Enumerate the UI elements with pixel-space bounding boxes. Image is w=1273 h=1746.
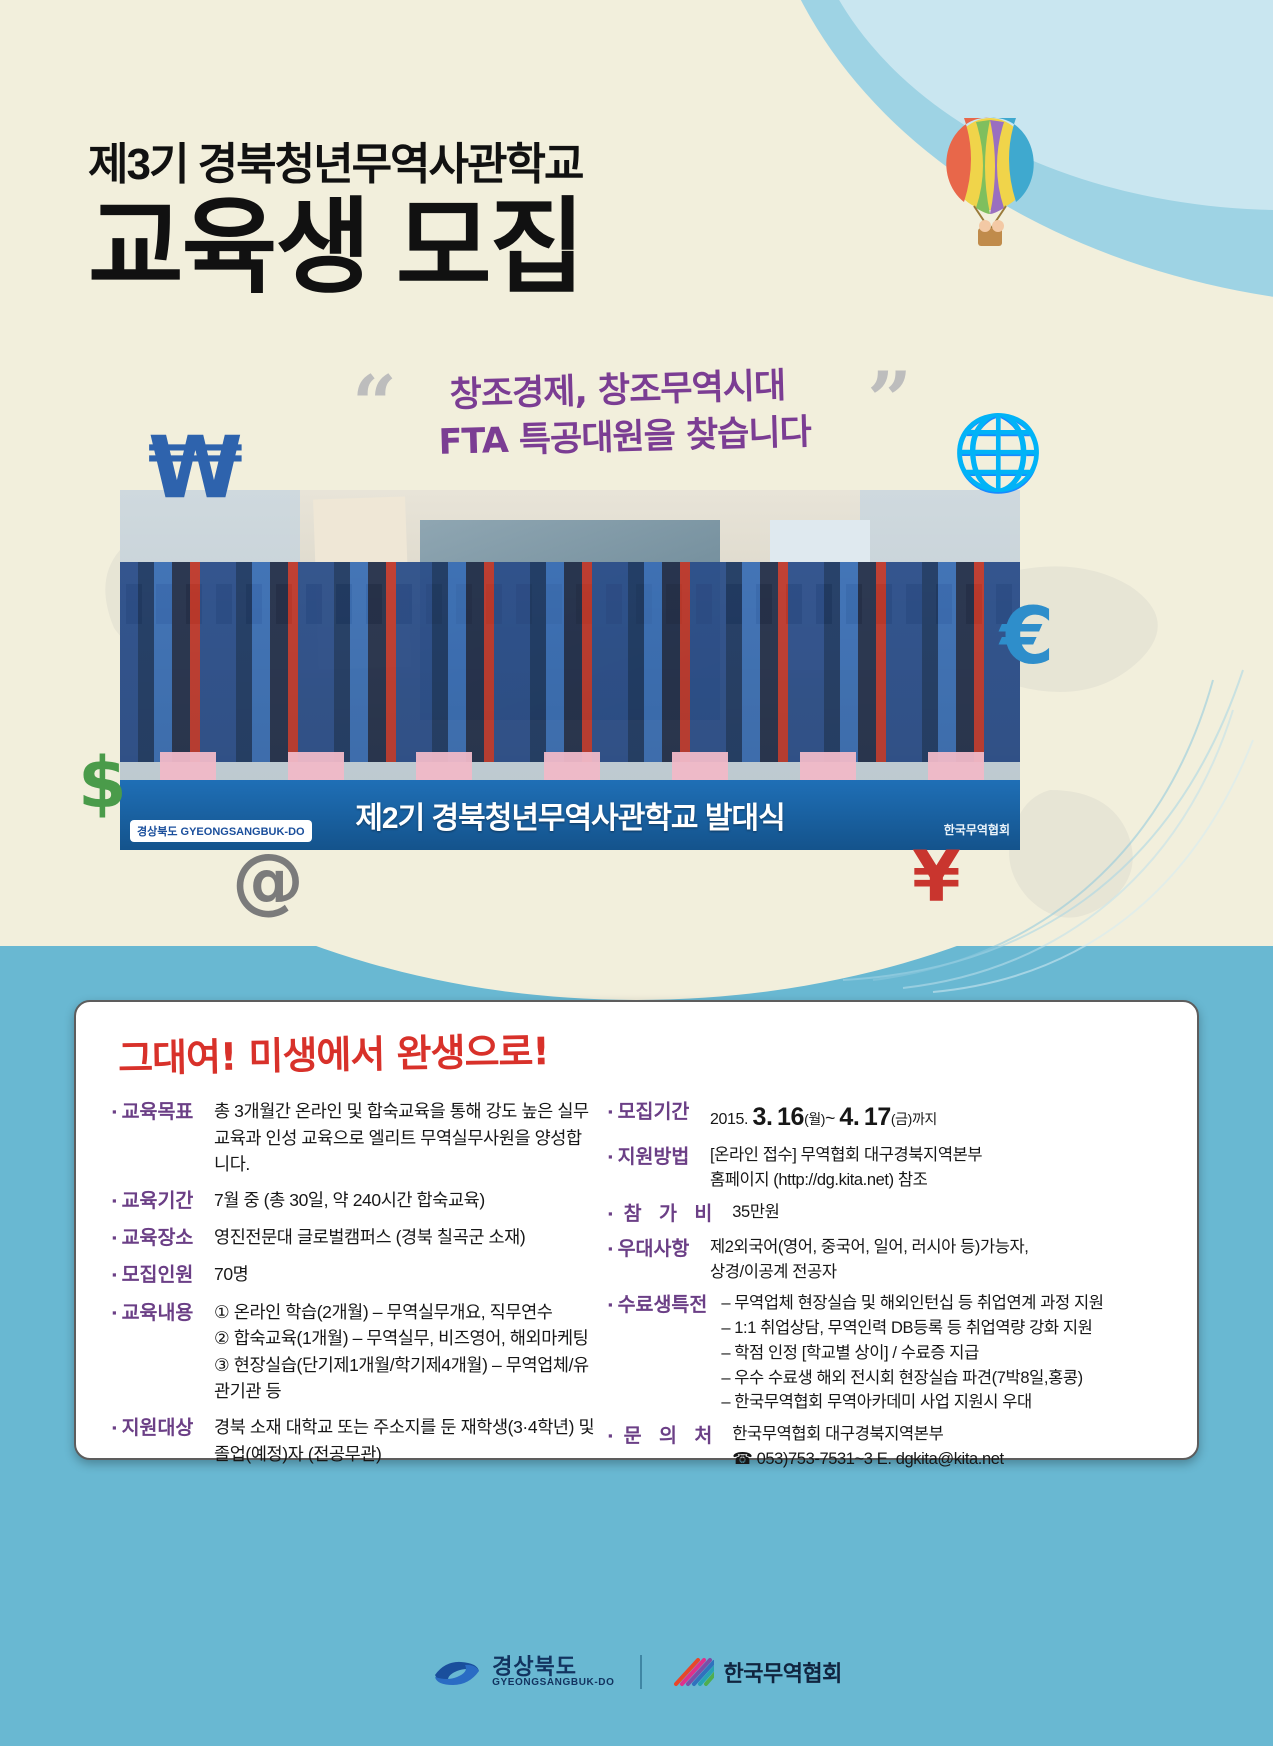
info-row-label: 교육내용 (112, 1299, 200, 1327)
info-row: 교육기간 7월 중 (총 30일, 약 240시간 합숙교육) (112, 1187, 596, 1215)
globe-icon: 🌐 (952, 410, 1044, 497)
card-headline: 그대여! 미생에서 완생으로! (118, 1020, 550, 1083)
info-row-period: 모집기간 2015. 3. 16(월)~ 4. 17(금)까지 (608, 1098, 1186, 1136)
info-row: 지원방법 [온라인 접수] 무역협회 대구경북지역본부 홈페이지 (http:/… (608, 1143, 1186, 1193)
info-column-right: 모집기간 2015. 3. 16(월)~ 4. 17(금)까지 지원방법 [온라… (596, 1098, 1186, 1481)
info-row-value: ① 온라인 학습(2개월) – 무역실무개요, 직무연수 ② 합숙교육(1개월)… (214, 1299, 596, 1405)
tagline-line-2: FTA 특공대원을 찾습니다 (410, 409, 827, 468)
info-row: 모집인원 70명 (112, 1261, 596, 1289)
period-suffix: 까지 (912, 1111, 937, 1127)
info-row-value: 총 3개월간 온라인 및 합숙교육을 통해 강도 높은 실무 교육과 인성 교육… (214, 1098, 596, 1178)
euro-currency-icon: € (1000, 592, 1054, 682)
info-row-label: 교육기간 (112, 1187, 200, 1215)
at-sign-icon: @ (232, 838, 304, 922)
info-row: 교육내용 ① 온라인 학습(2개월) – 무역실무개요, 직무연수 ② 합숙교육… (112, 1299, 596, 1405)
dollar-currency-icon: $ (78, 742, 127, 824)
info-row-value: 제2외국어(영어, 중국어, 일어, 러시아 등)가능자, 상경/이공계 전공자 (710, 1235, 1028, 1285)
info-row: 지원대상 경북 소재 대학교 또는 주소지를 둔 재학생(3·4학년) 및 졸업… (112, 1414, 596, 1467)
info-row-label: 모집인원 (112, 1261, 200, 1289)
period-start-day: 16 (777, 1103, 804, 1131)
info-row-label: 지원대상 (112, 1414, 200, 1442)
contact-phone-email: ☎ 053)753-7531~3 E. dgkita@kita.net (732, 1447, 1003, 1472)
quote-close-icon: ” (867, 362, 912, 440)
footer-divider (640, 1655, 642, 1689)
info-row-label: 교육장소 (112, 1224, 200, 1252)
info-row-value: 한국무역협회 대구경북지역본부 ☎ 053)753-7531~3 E. dgki… (732, 1422, 1003, 1472)
tagline-text: 창조경제, 창조무역시대 FTA 특공대원을 찾습니다 (351, 355, 874, 470)
tagline-line-1: 창조경제, 창조무역시대 (449, 366, 785, 415)
info-row-value: 70명 (214, 1261, 248, 1288)
info-row-label: 문 의 처 (608, 1422, 718, 1450)
tagline-block: “ ” 창조경제, 창조무역시대 FTA 특공대원을 찾습니다 (352, 362, 872, 463)
info-row: 수료생특전 – 무역업체 현장실습 및 해외인턴십 등 취업연계 과정 지원 –… (608, 1291, 1186, 1415)
won-currency-icon: ₩ (148, 418, 243, 518)
period-end-dow: (금) (891, 1111, 912, 1127)
info-row: 교육장소 영진전문대 글로벌캠퍼스 (경북 칠곡군 소재) (112, 1224, 596, 1252)
period-end-month: 4. (839, 1103, 859, 1131)
info-row: 교육목표 총 3개월간 온라인 및 합숙교육을 통해 강도 높은 실무 교육과 … (112, 1098, 596, 1178)
info-row-label: 수료생특전 (608, 1291, 707, 1319)
period-start-month: 3. (753, 1103, 773, 1131)
yen-currency-icon: ¥ (912, 836, 961, 918)
period-start-dow: (월) (804, 1111, 825, 1127)
headline-line-2: 교육생 모집 (88, 194, 583, 303)
gyeongsangbuk-do-text: 경상북도 GYEONGSANGBUK-DO (492, 1655, 614, 1689)
info-row-label: 교육목표 (112, 1098, 200, 1126)
info-column-left: 교육목표 총 3개월간 온라인 및 합숙교육을 통해 강도 높은 실무 교육과 … (76, 1098, 596, 1481)
info-row-value: 경북 소재 대학교 또는 주소지를 둔 재학생(3·4학년) 및 졸업(예정)자… (214, 1414, 594, 1467)
footer-logos: 경상북도 GYEONGSANGBUK-DO 한국무역협회 (0, 1642, 1273, 1702)
hot-air-balloon-icon (930, 112, 1050, 262)
info-row-value: 2015. 3. 16(월)~ 4. 17(금)까지 (710, 1098, 937, 1136)
info-row-value: 35만원 (732, 1200, 779, 1225)
info-row-value: [온라인 접수] 무역협회 대구경북지역본부 홈페이지 (http://dg.k… (710, 1143, 982, 1193)
info-row-value: 7월 중 (총 30일, 약 240시간 합숙교육) (214, 1187, 485, 1214)
info-row: 우대사항 제2외국어(영어, 중국어, 일어, 러시아 등)가능자, 상경/이공… (608, 1235, 1186, 1285)
info-row-contact: 문 의 처 한국무역협회 대구경북지역본부 ☎ 053)753-7531~3 E… (608, 1422, 1186, 1472)
info-row-value: 영진전문대 글로벌캠퍼스 (경북 칠곡군 소재) (214, 1224, 525, 1251)
info-row-label: 우대사항 (608, 1235, 696, 1263)
kita-logo: 한국무역협회 (668, 1656, 841, 1688)
info-row: 참 가 비 35만원 (608, 1200, 1186, 1228)
kita-mark-icon (668, 1656, 714, 1688)
period-end-day: 17 (864, 1103, 891, 1131)
info-row-label: 지원방법 (608, 1143, 696, 1171)
info-row-label: 모집기간 (608, 1098, 696, 1126)
headline-line-1: 제3기 경북청년무역사관학교 (88, 128, 583, 192)
gyeongsangbuk-do-mark-icon (431, 1655, 483, 1689)
event-banner-text: 제2기 경북청년무역사관학교 발대식 (355, 793, 784, 837)
gyeongsangbuk-do-logo: 경상북도 GYEONGSANGBUK-DO (431, 1655, 614, 1689)
event-photo: 제2기 경북청년무역사관학교 발대식 경상북도 GYEONGSANGBUK-DO… (120, 490, 1020, 850)
period-tilde: ~ (825, 1108, 835, 1128)
poster-headline: 제3기 경북청년무역사관학교 교육생 모집 (88, 128, 583, 303)
info-row-value: – 무역업체 현장실습 및 해외인턴십 등 취업연계 과정 지원 – 1:1 취… (721, 1291, 1103, 1415)
info-card: 그대여! 미생에서 완생으로! 교육목표 총 3개월간 온라인 및 합숙교육을 … (74, 1000, 1199, 1460)
poster-root: 제3기 경북청년무역사관학교 교육생 모집 “ ” 창조경제, 창조무역시대 F… (0, 0, 1273, 1746)
period-year: 2015. (710, 1111, 748, 1128)
info-row-label: 참 가 비 (608, 1200, 718, 1228)
